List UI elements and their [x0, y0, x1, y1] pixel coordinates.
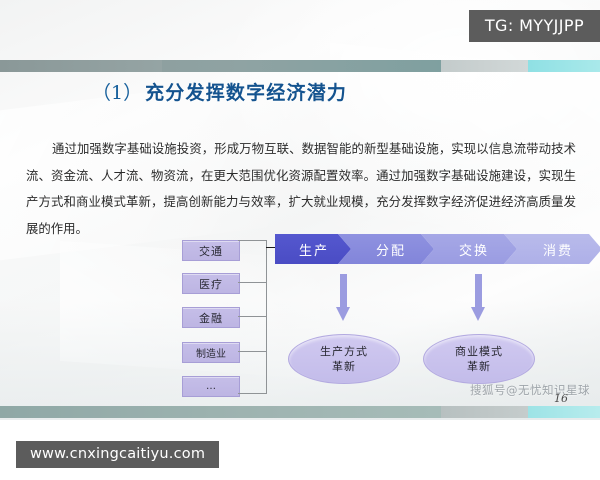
footer-band-segment-middle: [441, 406, 528, 418]
outcome-label-line1: 生产方式: [320, 344, 368, 359]
footer-band-segment-right: [528, 406, 600, 418]
footer-band: [0, 406, 600, 418]
body-paragraph: 通过加强数字基础设施投资，形成万物互联、数据智能的新型基础设施，实现以信息流带动…: [26, 136, 576, 242]
process-step-production[interactable]: 生产: [275, 234, 351, 264]
bracket-tick: [238, 316, 266, 317]
process-step-consumption[interactable]: 消费: [504, 234, 600, 264]
bracket-tick: [238, 282, 266, 283]
title-text: 充分发挥数字经济潜力: [145, 78, 347, 105]
outcome-ellipse-business-model[interactable]: 商业模式 革新: [423, 334, 535, 384]
page-title: （1） 充分发挥数字经济潜力: [92, 78, 347, 105]
down-arrow-icon-left: [336, 274, 350, 322]
outcome-label-line2: 革新: [332, 359, 356, 374]
page-number: 16: [554, 392, 568, 405]
category-box-manufacturing[interactable]: 制造业: [182, 342, 240, 363]
header-band-segment-middle: [441, 60, 528, 72]
bracket-connector: [238, 240, 267, 394]
bracket-tick: [238, 351, 266, 352]
outcome-label-line2: 革新: [467, 359, 491, 374]
outcome-label-line1: 商业模式: [455, 344, 503, 359]
down-arrow-icon-right: [471, 274, 485, 322]
url-tag-label: www.cnxingcaitiyu.com: [16, 441, 219, 468]
header-band-notch: [0, 60, 162, 72]
process-step-exchange[interactable]: 交换: [421, 234, 517, 264]
process-step-distribution[interactable]: 分配: [338, 234, 434, 264]
process-diagram: 交通 医疗 金融 制造业 … 生产 分配 交换 消费 生产方式 革新: [0, 232, 600, 407]
tg-tag-label: TG: MYYJJPP: [469, 10, 600, 42]
outcome-ellipse-production-mode[interactable]: 生产方式 革新: [288, 334, 400, 384]
category-box-finance[interactable]: 金融: [182, 307, 240, 328]
category-box-transport[interactable]: 交通: [182, 240, 240, 261]
header-band-segment-right: [528, 60, 600, 72]
category-box-more[interactable]: …: [182, 376, 240, 397]
slide-canvas: （1） 充分发挥数字经济潜力 通过加强数字基础设施投资，形成万物互联、数据智能的…: [0, 0, 600, 420]
footer-band-segment-left: [0, 406, 441, 418]
title-number: （1）: [92, 78, 142, 105]
watermark-text: 搜狐号@无忧知识星球: [470, 382, 590, 398]
process-chevron-row: 生产 分配 交换 消费: [275, 234, 600, 264]
category-box-medical[interactable]: 医疗: [182, 273, 240, 294]
